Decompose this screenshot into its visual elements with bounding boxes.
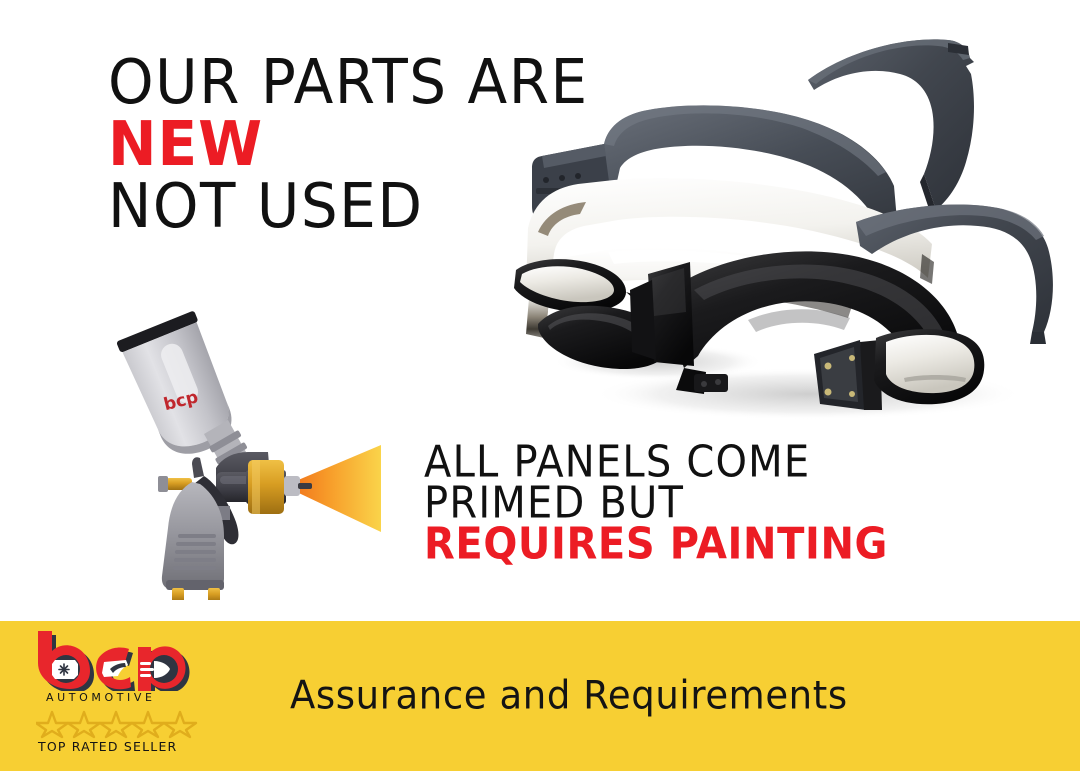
brand-block: AUTOMOTIVE TOP RATED SELLER [30,629,210,769]
star-3 [100,712,132,737]
mirror-icon [102,660,128,677]
headline-line-3: NOT USED [108,176,589,235]
sub-message-block: ALL PANELS COME PRIMED BUT REQUIRES PAIN… [424,441,888,564]
black-truck-mirror-right [814,329,984,410]
star-rating [36,709,201,739]
sub-message-line-3-requires-painting: REQUIRES PAINTING [424,523,888,567]
top-rated-seller-label: TOP RATED SELLER [38,739,177,754]
nozzle-assembly [246,460,312,514]
bcp-logo [30,629,198,691]
headline-block: OUR PARTS ARE NEW NOT USED [108,52,589,232]
footer-bar: AUTOMOTIVE TOP RATED SELLER Assurance an… [0,621,1080,771]
headline-line-1: OUR PARTS ARE [108,52,589,111]
star-4 [132,712,164,737]
footer-caption: Assurance and Requirements [290,673,848,718]
star-5 [164,712,196,737]
brand-tagline: AUTOMOTIVE [46,691,156,704]
star-2 [68,712,100,737]
auto-parts-cluster-image [508,22,1080,422]
radiator-snowflake-icon [52,660,78,679]
promo-banner: OUR PARTS ARE NEW NOT USED [0,0,1080,771]
star-1 [36,712,68,737]
headline-line-2-new: NEW [108,114,589,173]
spray-gun-image: bcp [96,300,396,600]
